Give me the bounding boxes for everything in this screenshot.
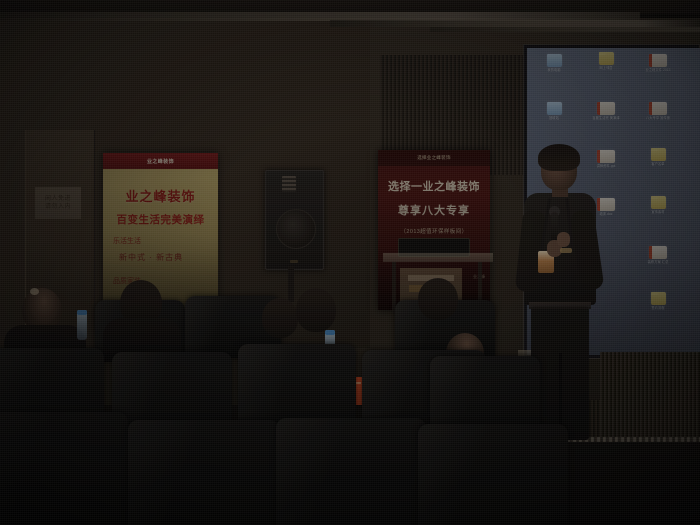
desktop-icon[interactable]: 回收站 (531, 102, 577, 120)
chair-front-left[interactable] (0, 412, 128, 525)
hairtie-accessory (30, 288, 39, 295)
desktop-icon-label: 装修方案 汇总 (635, 260, 681, 264)
door-sign-line-1: 闲人免进 (45, 195, 71, 203)
chair-front-right[interactable] (418, 424, 568, 525)
chair-front-center-left[interactable] (128, 420, 280, 525)
podium-table (383, 253, 493, 262)
doc-icon (649, 246, 667, 259)
chair-front-center[interactable] (276, 418, 426, 525)
desktop-icon-label: 客户名单 (635, 162, 681, 166)
desktop-icon[interactable]: 我的电脑 (531, 54, 577, 72)
desktop-icon-label: 八大专享 宣传册 (635, 116, 681, 120)
presenter-hair (538, 144, 580, 171)
speaker-led (290, 260, 298, 263)
desktop-icon-label: 回收站 (531, 116, 577, 120)
banner-right-headline-2: 尊享八大专享 (378, 202, 490, 218)
doc-icon (649, 102, 667, 115)
app-icon (547, 54, 562, 67)
conference-room-photo: 闲人免进 请勿入内 我的电脑网上邻居业之峰文件 2013回收站百度生活完 美演绎… (0, 0, 700, 525)
door-sign-line-2: 请勿入内 (45, 203, 71, 211)
desktop-icon[interactable]: 装修方案 汇总 (635, 246, 681, 264)
banner-right-top-text: 选择业之峰装饰 (417, 155, 451, 161)
desktop-icon-label: 我的电脑 (531, 68, 577, 72)
door-sign: 闲人免进 请勿入内 (35, 187, 81, 219)
doc-icon (597, 102, 615, 115)
slatted-wall-panel-lower (600, 352, 700, 437)
bottle-cap-2 (325, 330, 335, 335)
desktop-icon-label: 百度生活完 美演绎 (583, 116, 629, 120)
water-bottle-1 (77, 310, 87, 340)
desktop-icon[interactable]: 客户名单 (635, 150, 681, 166)
desktop-icon[interactable]: 宣传素材 (635, 198, 681, 214)
desktop-icon[interactable]: 业之峰文件 2013 (635, 54, 681, 72)
presenter-belt (529, 302, 591, 309)
banner-left-headline: 业之峰装饰 (103, 186, 218, 205)
speaker-tweeter (282, 176, 296, 192)
ceiling-soffit-band-3 (430, 27, 700, 32)
bottle-cap-1 (77, 310, 87, 315)
presenter-wristwatch (560, 248, 572, 253)
speaker-woofer (276, 209, 316, 249)
banner-left-bullet-1: 乐活生活 (113, 236, 218, 246)
desktop-icon[interactable]: 百度生活完 美演绎 (583, 102, 629, 120)
attendee-head-4 (296, 288, 336, 332)
attendee-head-5 (418, 278, 458, 320)
desktop-icon-label: 宣传素材 (635, 210, 681, 214)
banner-left-subhead: 百变生活完美演绎 (103, 212, 218, 227)
presenter-hand-right (557, 232, 570, 247)
banner-right-headline-1: 选择一业之峰装饰 (378, 178, 490, 194)
desktop-icon[interactable]: 网上邻居 (583, 54, 629, 70)
folder-icon (651, 196, 666, 209)
desktop-icon-label: 签约流程 (635, 306, 681, 310)
desktop-icon[interactable]: 八大专享 宣传册 (635, 102, 681, 120)
speaker-pole (288, 266, 294, 302)
desktop-icon-label: 网上邻居 (583, 66, 629, 70)
pa-loudspeaker (265, 170, 324, 270)
banner-right-top-bar: 选择业之峰装饰 (378, 150, 490, 166)
app-icon (547, 102, 562, 115)
folder-icon (651, 292, 666, 305)
banner-left-line-2: 新中式 · 新古典 (119, 252, 218, 263)
folder-icon (599, 52, 614, 65)
banner-left-top-bar: 业之峰装饰 (103, 153, 218, 169)
attendee-head-3 (262, 298, 298, 338)
desktop-icon[interactable]: 签约流程 (635, 294, 681, 310)
desktop-icon-label: 业之峰文件 2013 (635, 68, 681, 72)
banner-left-top-text: 业之峰装饰 (147, 158, 174, 165)
ceiling-soffit-band-2 (330, 20, 700, 27)
doc-icon (649, 54, 667, 67)
banner-right-subline: （2013超值环保样板间） (378, 227, 490, 235)
folder-icon (651, 148, 666, 161)
